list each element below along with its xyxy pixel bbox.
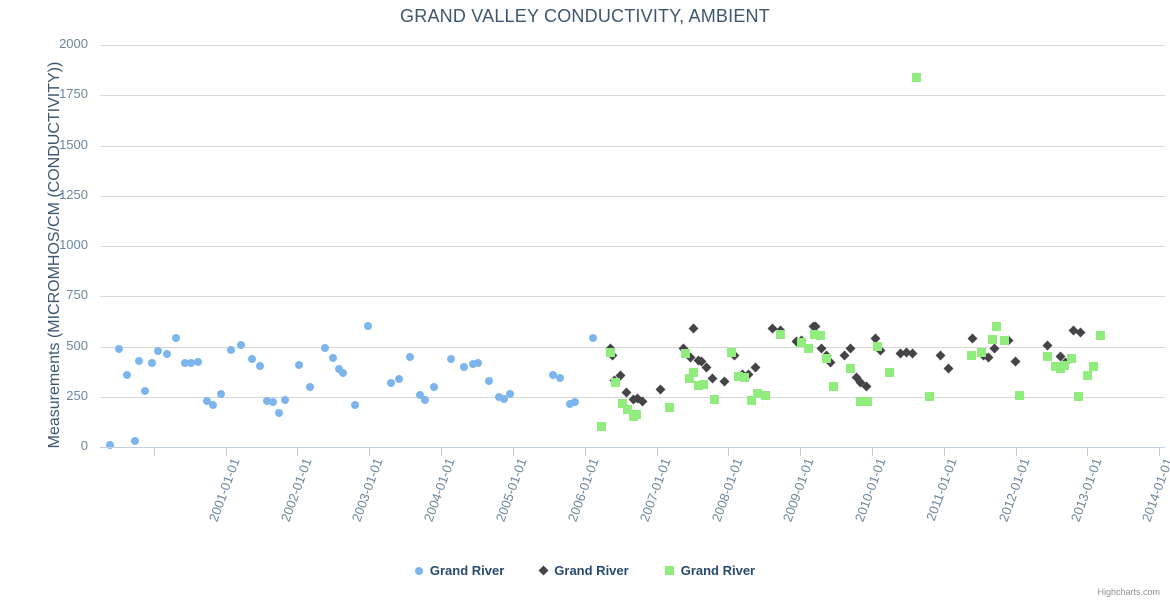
x-axis-tick-label: 2008-01-01	[708, 456, 745, 524]
y-axis-tick-label: 1750	[59, 87, 88, 100]
y-axis-tick-label: 2000	[59, 37, 88, 50]
y-axis-tick-label: 0	[81, 439, 88, 452]
gridline	[100, 296, 1165, 297]
data-point[interactable]	[611, 378, 620, 387]
data-point[interactable]	[135, 357, 143, 365]
data-point[interactable]	[106, 441, 114, 449]
x-axis-tick	[1087, 448, 1088, 456]
gridline	[100, 146, 1165, 147]
data-point[interactable]	[761, 391, 770, 400]
chart-title: GRAND VALLEY CONDUCTIVITY, AMBIENT	[0, 6, 1170, 27]
data-point[interactable]	[816, 331, 825, 340]
x-axis-tick-label: 2013-01-01	[1067, 456, 1104, 524]
x-axis-tick	[441, 448, 442, 456]
data-point[interactable]	[751, 363, 761, 373]
data-point[interactable]	[846, 364, 855, 373]
data-point[interactable]	[163, 350, 171, 358]
data-point[interactable]	[1083, 371, 1092, 380]
data-point[interactable]	[846, 344, 856, 354]
x-axis-tick	[513, 448, 514, 456]
x-axis-tick	[585, 448, 586, 456]
data-point[interactable]	[925, 392, 934, 401]
gridline	[100, 95, 1165, 96]
legend-label: Grand River	[681, 563, 755, 578]
data-point[interactable]	[702, 363, 712, 373]
data-point[interactable]	[571, 398, 579, 406]
data-point[interactable]	[936, 351, 946, 361]
plot-area	[100, 45, 1165, 447]
data-point[interactable]	[485, 377, 493, 385]
legend-item-grand-river-square[interactable]: Grand River	[665, 563, 755, 578]
data-point[interactable]	[141, 387, 149, 395]
data-point[interactable]	[474, 359, 482, 367]
credits-label: Highcharts.com	[1097, 587, 1160, 597]
data-point[interactable]	[720, 377, 730, 387]
data-point[interactable]	[632, 410, 641, 419]
data-point[interactable]	[1096, 331, 1105, 340]
data-point[interactable]	[131, 437, 139, 445]
x-axis-tick-label: 2006-01-01	[565, 456, 602, 524]
data-point[interactable]	[281, 396, 289, 404]
legend-label: Grand River	[554, 563, 628, 578]
x-axis-line	[100, 447, 1165, 448]
x-axis-tick	[1159, 448, 1160, 456]
data-point[interactable]	[306, 383, 314, 391]
data-point[interactable]	[1067, 354, 1076, 363]
data-point[interactable]	[115, 345, 123, 353]
data-point[interactable]	[387, 379, 395, 387]
data-point[interactable]	[430, 383, 438, 391]
data-point[interactable]	[172, 334, 180, 342]
x-axis-tick	[369, 448, 370, 456]
data-point[interactable]	[237, 341, 245, 349]
data-point[interactable]	[217, 390, 225, 398]
data-point[interactable]	[1000, 336, 1009, 345]
data-point[interactable]	[885, 368, 894, 377]
data-point[interactable]	[364, 322, 372, 330]
data-point[interactable]	[988, 335, 997, 344]
x-axis-tick-label: 2003-01-01	[349, 456, 386, 524]
data-point[interactable]	[269, 398, 277, 406]
data-point[interactable]	[406, 353, 414, 361]
data-point[interactable]	[710, 395, 719, 404]
x-axis-tick-label: 2002-01-01	[277, 456, 314, 524]
legend-label: Grand River	[430, 563, 504, 578]
data-point[interactable]	[597, 422, 606, 431]
data-point[interactable]	[329, 354, 337, 362]
data-point[interactable]	[295, 361, 303, 369]
data-point[interactable]	[194, 358, 202, 366]
y-axis-tick-label: 750	[66, 288, 88, 301]
data-point[interactable]	[863, 397, 872, 406]
legend-marker-square-icon	[665, 566, 674, 575]
x-axis-tick-label: 2009-01-01	[780, 456, 817, 524]
x-axis-tick-label: 2001-01-01	[206, 456, 243, 524]
data-point[interactable]	[689, 323, 699, 333]
data-point[interactable]	[912, 73, 921, 82]
data-point[interactable]	[1011, 357, 1021, 367]
x-axis-tick	[728, 448, 729, 456]
x-axis-tick	[1016, 448, 1017, 456]
data-point[interactable]	[689, 368, 698, 377]
legend-marker-diamond-icon	[539, 566, 549, 576]
data-point[interactable]	[123, 371, 131, 379]
data-point[interactable]	[992, 322, 1001, 331]
y-axis-tick-label: 1250	[59, 188, 88, 201]
x-axis-tick-label: 2010-01-01	[852, 456, 889, 524]
data-point[interactable]	[699, 380, 708, 389]
data-point[interactable]	[1043, 352, 1052, 361]
gridline	[100, 196, 1165, 197]
x-axis-tick-label: 2014-01-01	[1139, 456, 1170, 524]
gridline	[100, 246, 1165, 247]
data-point[interactable]	[1015, 391, 1024, 400]
y-axis-title: Measurements (MICROMHOS/CM (CONDUCTIVITY…	[46, 5, 64, 505]
data-point[interactable]	[351, 401, 359, 409]
data-point[interactable]	[1043, 341, 1053, 351]
y-axis-tick-label: 1000	[59, 238, 88, 251]
data-point[interactable]	[681, 349, 690, 358]
x-axis-tick	[657, 448, 658, 456]
legend-item-grand-river-diamond[interactable]: Grand River	[540, 563, 628, 578]
y-axis-tick-label: 250	[66, 389, 88, 402]
data-point[interactable]	[606, 348, 615, 357]
data-point[interactable]	[776, 330, 785, 339]
data-point[interactable]	[822, 354, 831, 363]
data-point[interactable]	[460, 363, 468, 371]
data-point[interactable]	[321, 344, 329, 352]
y-axis-tick-label: 1500	[59, 138, 88, 151]
legend-item-grand-river-circle[interactable]: Grand River	[415, 563, 504, 578]
x-axis-tick-label: 2004-01-01	[421, 456, 458, 524]
data-point[interactable]	[740, 373, 749, 382]
chart-legend: Grand RiverGrand RiverGrand River	[0, 563, 1170, 578]
x-axis-tick	[154, 448, 155, 456]
data-point[interactable]	[209, 401, 217, 409]
data-point[interactable]	[943, 364, 953, 374]
x-axis-tick-label: 2007-01-01	[636, 456, 673, 524]
x-axis-tick-label: 2011-01-01	[923, 456, 960, 523]
data-point[interactable]	[256, 362, 264, 370]
data-point[interactable]	[804, 344, 813, 353]
data-point[interactable]	[727, 348, 736, 357]
data-point[interactable]	[421, 396, 429, 404]
data-point[interactable]	[227, 346, 235, 354]
y-axis-tick-label: 500	[66, 339, 88, 352]
x-axis-tick	[297, 448, 298, 456]
data-point[interactable]	[506, 390, 514, 398]
data-point[interactable]	[148, 359, 156, 367]
gridline	[100, 45, 1165, 46]
data-point[interactable]	[556, 374, 564, 382]
x-axis-tick	[226, 448, 227, 456]
data-point[interactable]	[1089, 362, 1098, 371]
data-point[interactable]	[989, 344, 999, 354]
legend-marker-circle-icon	[415, 567, 423, 575]
data-point[interactable]	[275, 409, 283, 417]
x-axis-tick-label: 2005-01-01	[493, 456, 530, 524]
data-point[interactable]	[968, 334, 978, 344]
data-point[interactable]	[829, 382, 838, 391]
x-axis-tick-label: 2012-01-01	[996, 456, 1033, 524]
data-point[interactable]	[248, 355, 256, 363]
data-point[interactable]	[395, 375, 403, 383]
data-point[interactable]	[967, 351, 976, 360]
data-point[interactable]	[589, 334, 597, 342]
data-point[interactable]	[339, 369, 347, 377]
data-point[interactable]	[154, 347, 162, 355]
data-point[interactable]	[708, 374, 718, 384]
highcharts-container: GRAND VALLEY CONDUCTIVITY, AMBIENT Measu…	[0, 0, 1170, 600]
data-point[interactable]	[655, 385, 665, 395]
data-point[interactable]	[873, 342, 882, 351]
data-point[interactable]	[977, 348, 986, 357]
gridline	[100, 347, 1165, 348]
x-axis-tick	[872, 448, 873, 456]
x-axis-tick	[800, 448, 801, 456]
data-point[interactable]	[665, 403, 674, 412]
data-point[interactable]	[447, 355, 455, 363]
data-point[interactable]	[1074, 392, 1083, 401]
